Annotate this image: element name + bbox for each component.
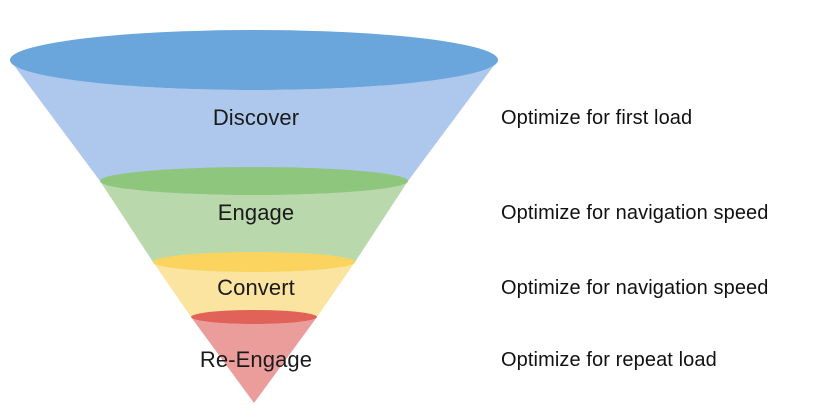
stage-label-engage: Engage: [218, 202, 294, 224]
funnel-cap-re-engage: [191, 310, 317, 324]
funnel-cap-engage: [100, 167, 408, 195]
annotation-re-engage: Optimize for repeat load: [501, 350, 717, 370]
stage-label-convert: Convert: [217, 277, 295, 299]
funnel-cap-convert: [153, 252, 355, 272]
stage-label-re-engage: Re-Engage: [200, 349, 312, 371]
annotation-discover: Optimize for first load: [501, 108, 692, 128]
funnel-cap-discover: [10, 30, 498, 90]
funnel-diagram: Discover Engage Convert Re-Engage Optimi…: [0, 0, 837, 417]
annotation-convert: Optimize for navigation speed: [501, 278, 769, 298]
stage-label-discover: Discover: [213, 107, 299, 129]
annotation-engage: Optimize for navigation speed: [501, 203, 769, 223]
